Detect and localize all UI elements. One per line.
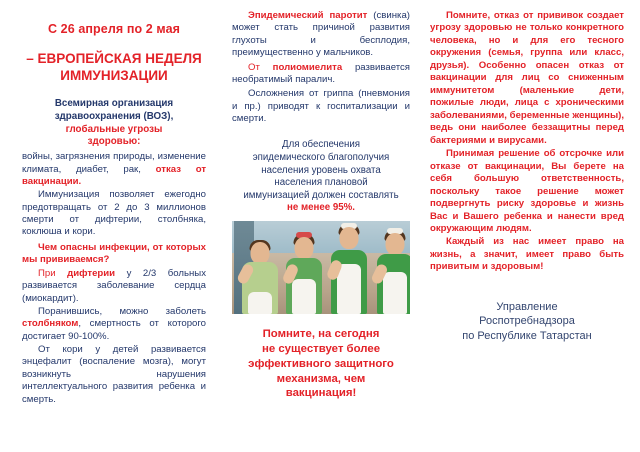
influenza-paragraph: Осложнения от гриппа (пневмония и пр.) п… xyxy=(232,88,410,125)
polio-paragraph: От полиомиелита развивается необратимый … xyxy=(232,62,410,87)
coverage-line-3: населения уровень охвата xyxy=(232,165,410,178)
mumps-paragraph: Эпидемический паротит (свинка) может ста… xyxy=(232,10,410,60)
right-column: Помните, отказ от прививок создает угроз… xyxy=(418,0,640,452)
child-figure-2 xyxy=(282,232,326,314)
middle-column: Эпидемический паротит (свинка) может ста… xyxy=(218,0,418,452)
child-head-2 xyxy=(295,237,314,259)
immunization-paragraph: Иммунизация позволяет ежегодно предотвра… xyxy=(22,189,206,239)
child-body-4 xyxy=(377,254,410,314)
child-figure-4 xyxy=(373,228,410,314)
coverage-line-5: иммунизацией должен составлять xyxy=(232,190,410,203)
coverage-line-1: Для обеспечения xyxy=(232,139,410,152)
footer-line-3: по Республике Татарстан xyxy=(430,329,624,344)
global-threats-paragraph: войны, загрязнения природы, изменение кл… xyxy=(22,151,206,188)
who-heading-line-3: глобальные угрозы xyxy=(22,124,206,137)
child-figure-3 xyxy=(327,224,371,314)
tetanus-paragraph: Поранившись, можно заболеть столбняком, … xyxy=(22,306,206,343)
poster-headline: С 26 апреля по 2 мая – ЕВРОПЕЙСКАЯ НЕДЕЛ… xyxy=(22,22,206,84)
right-to-life-paragraph: Каждый из нас имеет право на жизнь, а зн… xyxy=(430,236,624,273)
diphtheria-lead: При xyxy=(38,268,67,279)
remember-line-3: эффективного защитного xyxy=(232,357,410,372)
vaccinated-children-photo xyxy=(232,221,410,314)
who-heading-line-4: здоровью: xyxy=(22,136,206,149)
child-apron-4 xyxy=(383,272,407,314)
remember-line-4: механизма, чем xyxy=(232,372,410,387)
left-column: С 26 апреля по 2 мая – ЕВРОПЕЙСКАЯ НЕДЕЛ… xyxy=(0,0,218,452)
child-apron-1 xyxy=(248,292,272,314)
remember-line-5: вакцинация! xyxy=(232,386,410,401)
issuing-authority-footer: Управление Роспотребнадзора по Республик… xyxy=(430,300,624,344)
remember-vaccination-message: Помните, на сегодня не существует более … xyxy=(232,327,410,401)
headline-title: – ЕВРОПЕЙСКАЯ НЕДЕЛЯ ИММУНИЗАЦИИ xyxy=(22,50,206,85)
photo-container xyxy=(232,221,410,314)
coverage-line-2: эпидемического благополучия xyxy=(232,152,410,165)
polio-lead: От xyxy=(248,62,273,73)
coverage-percent: не менее 95%. xyxy=(232,202,410,215)
diphtheria-paragraph: При дифтерии у 2/3 больных развивается з… xyxy=(22,268,206,305)
footer-line-1: Управление xyxy=(430,300,624,315)
responsibility-paragraph: Принимая решение об отсрочке или отказе … xyxy=(430,148,624,235)
headline-date: С 26 апреля по 2 мая xyxy=(22,22,206,37)
infections-question-heading: Чем опасны инфекции, от которых мы приви… xyxy=(22,242,206,267)
child-head-3 xyxy=(340,227,359,249)
mumps-keyword: Эпидемический паротит xyxy=(248,10,367,21)
remember-line-1: Помните, на сегодня xyxy=(232,327,410,342)
coverage-line-4: населения плановой xyxy=(232,177,410,190)
refusal-risk-paragraph: Помните, отказ от прививок создает угроз… xyxy=(430,10,624,147)
footer-line-2: Роспотребнадзора xyxy=(430,314,624,329)
who-heading: Всемирная организация здравоохранения (В… xyxy=(22,98,206,149)
child-apron-2 xyxy=(292,279,316,314)
polio-keyword: полиомиелита xyxy=(273,62,343,73)
child-figure-1 xyxy=(238,236,282,314)
who-heading-line-2: здравоохранения (ВОЗ), xyxy=(22,111,206,124)
child-head-4 xyxy=(386,233,405,255)
child-head-1 xyxy=(251,242,270,264)
child-apron-3 xyxy=(337,264,361,314)
who-heading-line-1: Всемирная организация xyxy=(22,98,206,111)
coverage-statement: Для обеспечения эпидемического благополу… xyxy=(232,139,410,215)
measles-paragraph: От кори у детей развивается энцефалит (в… xyxy=(22,344,206,406)
tetanus-keyword: столбняком xyxy=(22,318,78,329)
remember-line-2: не существует более xyxy=(232,342,410,357)
immunization-week-poster: С 26 апреля по 2 мая – ЕВРОПЕЙСКАЯ НЕДЕЛ… xyxy=(0,0,640,452)
diphtheria-keyword: дифтерии xyxy=(67,268,115,279)
tetanus-lead: Поранившись, можно заболеть xyxy=(38,306,206,317)
